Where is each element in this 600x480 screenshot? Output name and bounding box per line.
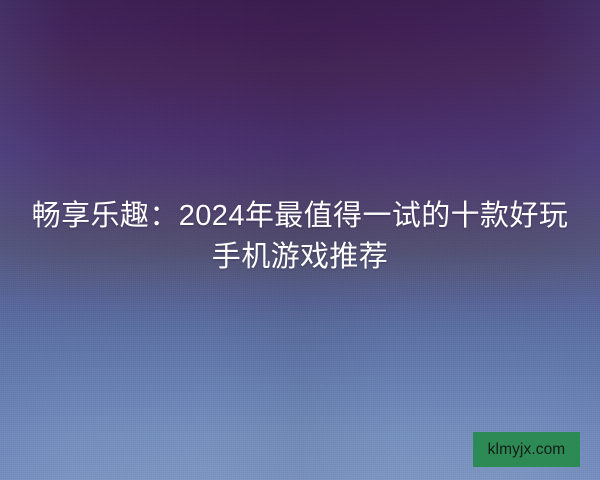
site-watermark-label: klmyjx.com: [488, 442, 566, 458]
banner-canvas: 畅享乐趣：2024年最值得一试的十款好玩手机游戏推荐 klmyjx.com: [0, 0, 600, 480]
banner-title: 畅享乐趣：2024年最值得一试的十款好玩手机游戏推荐: [30, 196, 570, 278]
banner-title-block: 畅享乐趣：2024年最值得一试的十款好玩手机游戏推荐: [0, 196, 600, 278]
site-watermark-badge[interactable]: klmyjx.com: [473, 432, 580, 467]
